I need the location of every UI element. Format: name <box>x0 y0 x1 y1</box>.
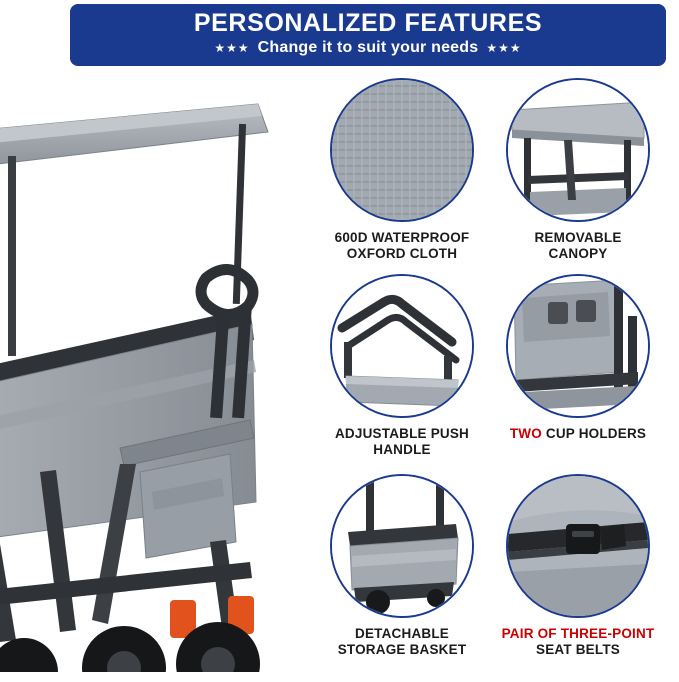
star-left-icon: ★★★ <box>214 40 249 56</box>
banner-subtitle-row: ★★★ Change it to suit your needs ★★★ <box>70 39 666 57</box>
product-hero-image <box>0 72 300 672</box>
feature-thumb-two-cup-holders <box>506 274 650 418</box>
feature-caption-two-cup-holders: TWO CUP HOLDERS <box>490 426 666 442</box>
feature-item-removable-canopy: REMOVABLE CANOPY <box>490 78 666 262</box>
feature-caption-waterproof-oxford-cloth: 600D WATERPROOF OXFORD CLOTH <box>314 230 490 262</box>
caption-line-2: STORAGE BASKET <box>338 642 467 657</box>
feature-caption-three-point-seat-belts: PAIR OF THREE-POINT SEAT BELTS <box>490 626 666 658</box>
caption-line-2: SEAT BELTS <box>536 642 620 657</box>
oxford-fabric-texture-image <box>332 80 472 220</box>
caption-line-2: HANDLE <box>373 442 430 457</box>
star-right-icon: ★★★ <box>486 40 521 56</box>
caption-line-1: PAIR OF THREE-POINT <box>502 626 655 641</box>
caption-line-2: OXFORD CLOTH <box>347 246 457 261</box>
push-handle-image <box>332 276 472 416</box>
feature-item-three-point-seat-belts: PAIR OF THREE-POINT SEAT BELTS <box>490 474 666 658</box>
feature-item-detachable-storage-basket: DETACHABLE STORAGE BASKET <box>314 474 490 658</box>
feature-item-adjustable-push-handle: ADJUSTABLE PUSH HANDLE <box>314 274 490 458</box>
page-title: PERSONALIZED FEATURES <box>70 8 666 38</box>
caption-line-1: REMOVABLE <box>534 230 621 245</box>
caption-line-2: CANOPY <box>549 246 608 261</box>
caption-line-1: DETACHABLE <box>355 626 449 641</box>
caption-line-1: ADJUSTABLE PUSH <box>335 426 469 441</box>
cup-holders-image <box>508 276 648 416</box>
feature-item-waterproof-oxford-cloth: 600D WATERPROOF OXFORD CLOTH <box>314 78 490 262</box>
product-feature-infographic: PERSONALIZED FEATURES ★★★ Change it to s… <box>0 0 679 682</box>
removable-canopy-image <box>508 80 648 220</box>
header-banner: PERSONALIZED FEATURES ★★★ Change it to s… <box>70 4 666 66</box>
banner-subtitle: Change it to suit your needs <box>258 39 479 57</box>
feature-caption-adjustable-push-handle: ADJUSTABLE PUSH HANDLE <box>314 426 490 458</box>
caption-highlight: TWO <box>510 426 542 441</box>
feature-grid: 600D WATERPROOF OXFORD CLOTH REMOV <box>300 78 679 668</box>
storage-basket-image <box>332 476 472 616</box>
feature-thumb-three-point-seat-belts <box>506 474 650 618</box>
feature-thumb-detachable-storage-basket <box>330 474 474 618</box>
feature-thumb-waterproof-oxford-cloth <box>330 78 474 222</box>
caption-line-1: 600D WATERPROOF <box>335 230 470 245</box>
feature-item-two-cup-holders: TWO CUP HOLDERS <box>490 274 666 442</box>
feature-thumb-adjustable-push-handle <box>330 274 474 418</box>
feature-thumb-removable-canopy <box>506 78 650 222</box>
wagon-illustration <box>0 72 300 672</box>
feature-caption-detachable-storage-basket: DETACHABLE STORAGE BASKET <box>314 626 490 658</box>
feature-caption-removable-canopy: REMOVABLE CANOPY <box>490 230 666 262</box>
caption-rest: CUP HOLDERS <box>546 426 646 441</box>
seat-belt-image <box>508 476 648 616</box>
